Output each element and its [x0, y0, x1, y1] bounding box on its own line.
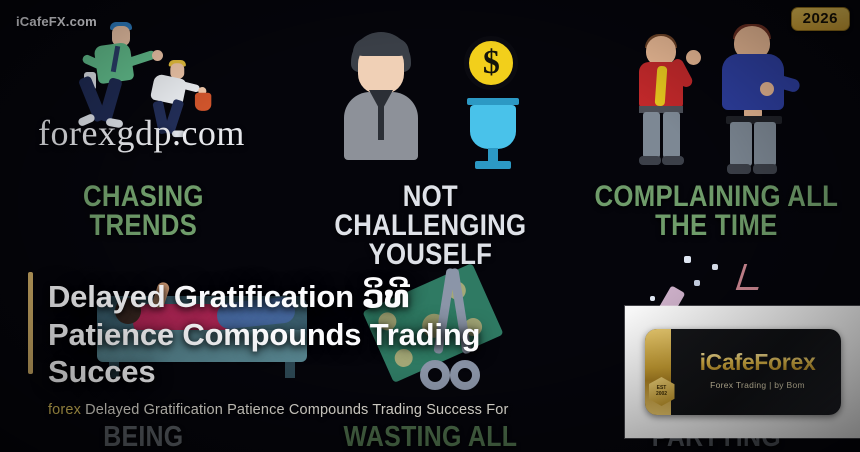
person-avatar-icon: [344, 32, 418, 160]
shoe-right: [753, 164, 777, 174]
caption-wasting-all: WASTING ALL: [307, 421, 554, 452]
page-title: Delayed Gratification ວິທີ Patience Comp…: [48, 278, 588, 391]
caption-being: BEING: [20, 421, 267, 452]
art-avatar-coin-glass: [287, 14, 574, 174]
caption-line-2: THE TIME: [593, 211, 840, 240]
logo-text-group: iCafeForex Forex Trading | by Bom: [675, 349, 841, 390]
glass-stem: [488, 148, 498, 162]
dollar-coin-icon: [464, 36, 518, 90]
fringe-shape: [353, 38, 409, 56]
caption-line-1: COMPLAINING ALL: [595, 180, 839, 213]
confetti-dot: [712, 264, 718, 270]
subtitle-rest: Delayed Gratification Patience Compounds…: [81, 402, 508, 418]
cell-complaining-all-the-time: COMPLAINING ALL THE TIME: [573, 0, 860, 260]
headline-lao-text: ວິທີ: [362, 279, 409, 315]
subtitle: forex Delayed Gratification Patience Com…: [48, 402, 688, 418]
accent-bar: [28, 272, 33, 374]
caption-chasing-trends: CHASING TRENDS: [20, 182, 267, 240]
headline-line-1: Delayed Gratification: [48, 279, 362, 314]
glass-base: [475, 161, 511, 169]
leg-right: [754, 122, 776, 166]
glass-rim: [467, 98, 519, 105]
caption-not-challenging-yourself: NOT CHALLENGING YOUSELF: [307, 182, 554, 269]
art-two-laughing-men: [573, 14, 860, 174]
screenshot-canvas: CHASING TRENDS: [0, 0, 860, 452]
caption-line-1: NOT CHALLENGING: [334, 180, 526, 242]
caption-line-1: CHASING: [83, 180, 204, 213]
leg-left: [730, 122, 752, 166]
logo-title: iCafeForex: [675, 349, 841, 376]
logo-plate: EST 2002 iCafeForex Forex Trading | by B…: [645, 329, 841, 415]
leg-left: [643, 112, 660, 158]
shoe-left: [639, 156, 661, 165]
logo-card[interactable]: EST 2002 iCafeForex Forex Trading | by B…: [625, 306, 860, 438]
sack-shape: [195, 93, 211, 111]
site-watermark: iCafeFX.com: [16, 14, 97, 29]
confetti-dot: [694, 280, 700, 286]
tie-shape: [378, 106, 384, 140]
drink-glass-icon: [467, 98, 519, 174]
hand-shape: [686, 50, 701, 65]
shoe-right: [662, 156, 684, 165]
headline-block: Delayed Gratification ວິທີ Patience Comp…: [28, 278, 588, 391]
headline-line-2: Patience Compounds Trading: [48, 317, 480, 352]
domain-watermark: forexgdp.com: [38, 112, 245, 154]
caption-line-2: TRENDS: [20, 211, 267, 240]
confetti-dot: [684, 256, 691, 263]
headline-line-3: Succes: [48, 354, 155, 389]
leg-right: [663, 112, 680, 158]
confetti-squiggle: [736, 264, 766, 290]
caption-complaining-all-the-time: COMPLAINING ALL THE TIME: [593, 182, 840, 240]
subtitle-keyword: forex: [48, 402, 81, 418]
confetti-dot: [650, 296, 655, 301]
shoe-left: [727, 164, 751, 174]
seal-line-2: 2002: [656, 392, 667, 397]
logo-tagline: Forex Trading | by Bom: [675, 380, 841, 390]
year-badge: 2026: [791, 7, 850, 31]
hand-shape: [152, 50, 163, 61]
glass-bowl: [470, 105, 516, 149]
cell-not-challenging-yourself: NOT CHALLENGING YOUSELF: [287, 0, 574, 260]
